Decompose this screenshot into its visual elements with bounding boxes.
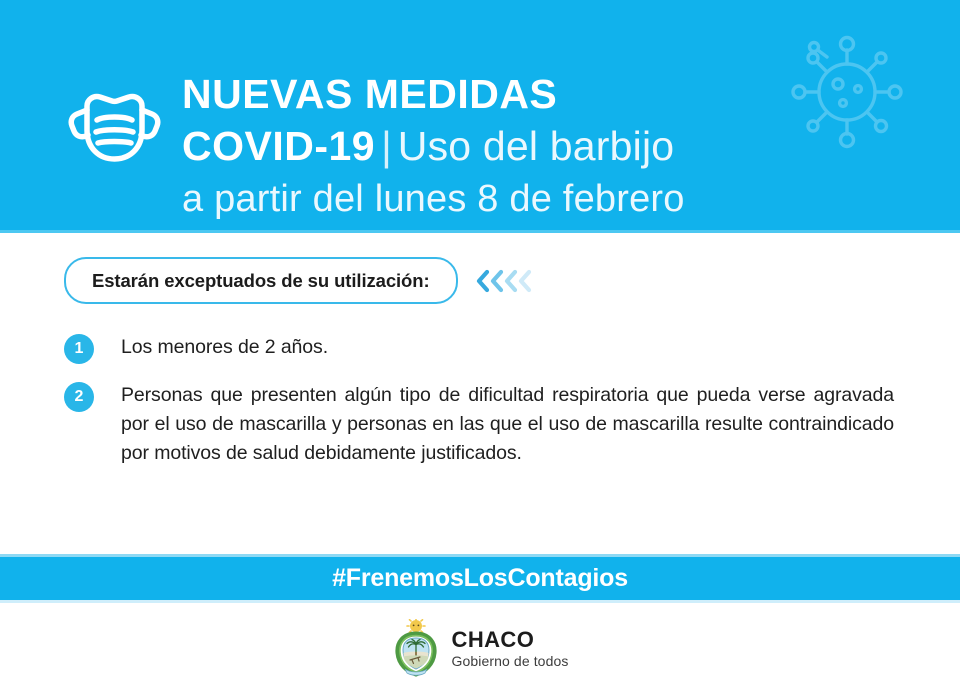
callout-box: Estarán exceptuados de su utilización: [64,257,458,304]
header-banner: NUEVAS MEDIDAS COVID-19|Uso del barbijo … [0,0,960,233]
callout-label: Estarán exceptuados de su utilización: [92,270,430,292]
chevron-group [474,268,530,294]
face-mask-icon [64,80,164,172]
footer-area: CHACO Gobierno de todos [0,603,960,693]
list-item-number-badge: 2 [64,382,94,412]
list-item: 2 Personas que presenten algún tipo de d… [64,381,894,468]
chaco-logo-subtitle: Gobierno de todos [452,654,569,668]
page-title-covid-label: COVID-19 [182,123,375,169]
page-title-line2: COVID-19|Uso del barbijo [182,120,902,172]
list-item-text: Los menores de 2 años. [121,333,328,362]
chevron-left-icon [516,268,533,294]
chaco-logo-title: CHACO [452,629,569,651]
page-title-line1: NUEVAS MEDIDAS [182,68,902,120]
content-area: Estarán exceptuados de su utilización: [0,233,960,557]
list-item: 1 Los menores de 2 años. [64,333,894,364]
chaco-coat-of-arms-icon [392,619,440,677]
page-title-line3: a partir del lunes 8 de febrero [182,173,902,225]
hashtag-banner: #FrenemosLosContagios [0,557,960,600]
exceptions-list: 1 Los menores de 2 años. 2 Personas que … [64,333,894,485]
page-title-separator: | [375,123,398,169]
chaco-logo-text: CHACO Gobierno de todos [452,629,569,668]
poster-root: NUEVAS MEDIDAS COVID-19|Uso del barbijo … [0,0,960,693]
list-item-number-badge: 1 [64,334,94,364]
page-title-subject: Uso del barbijo [398,123,675,169]
hashtag-label: #FrenemosLosContagios [332,564,628,593]
callout-row: Estarán exceptuados de su utilización: [64,257,530,304]
header-title-block: NUEVAS MEDIDAS COVID-19|Uso del barbijo … [182,68,902,225]
chaco-logo: CHACO Gobierno de todos [392,619,569,677]
list-item-text: Personas que presenten algún tipo de dif… [121,381,894,468]
